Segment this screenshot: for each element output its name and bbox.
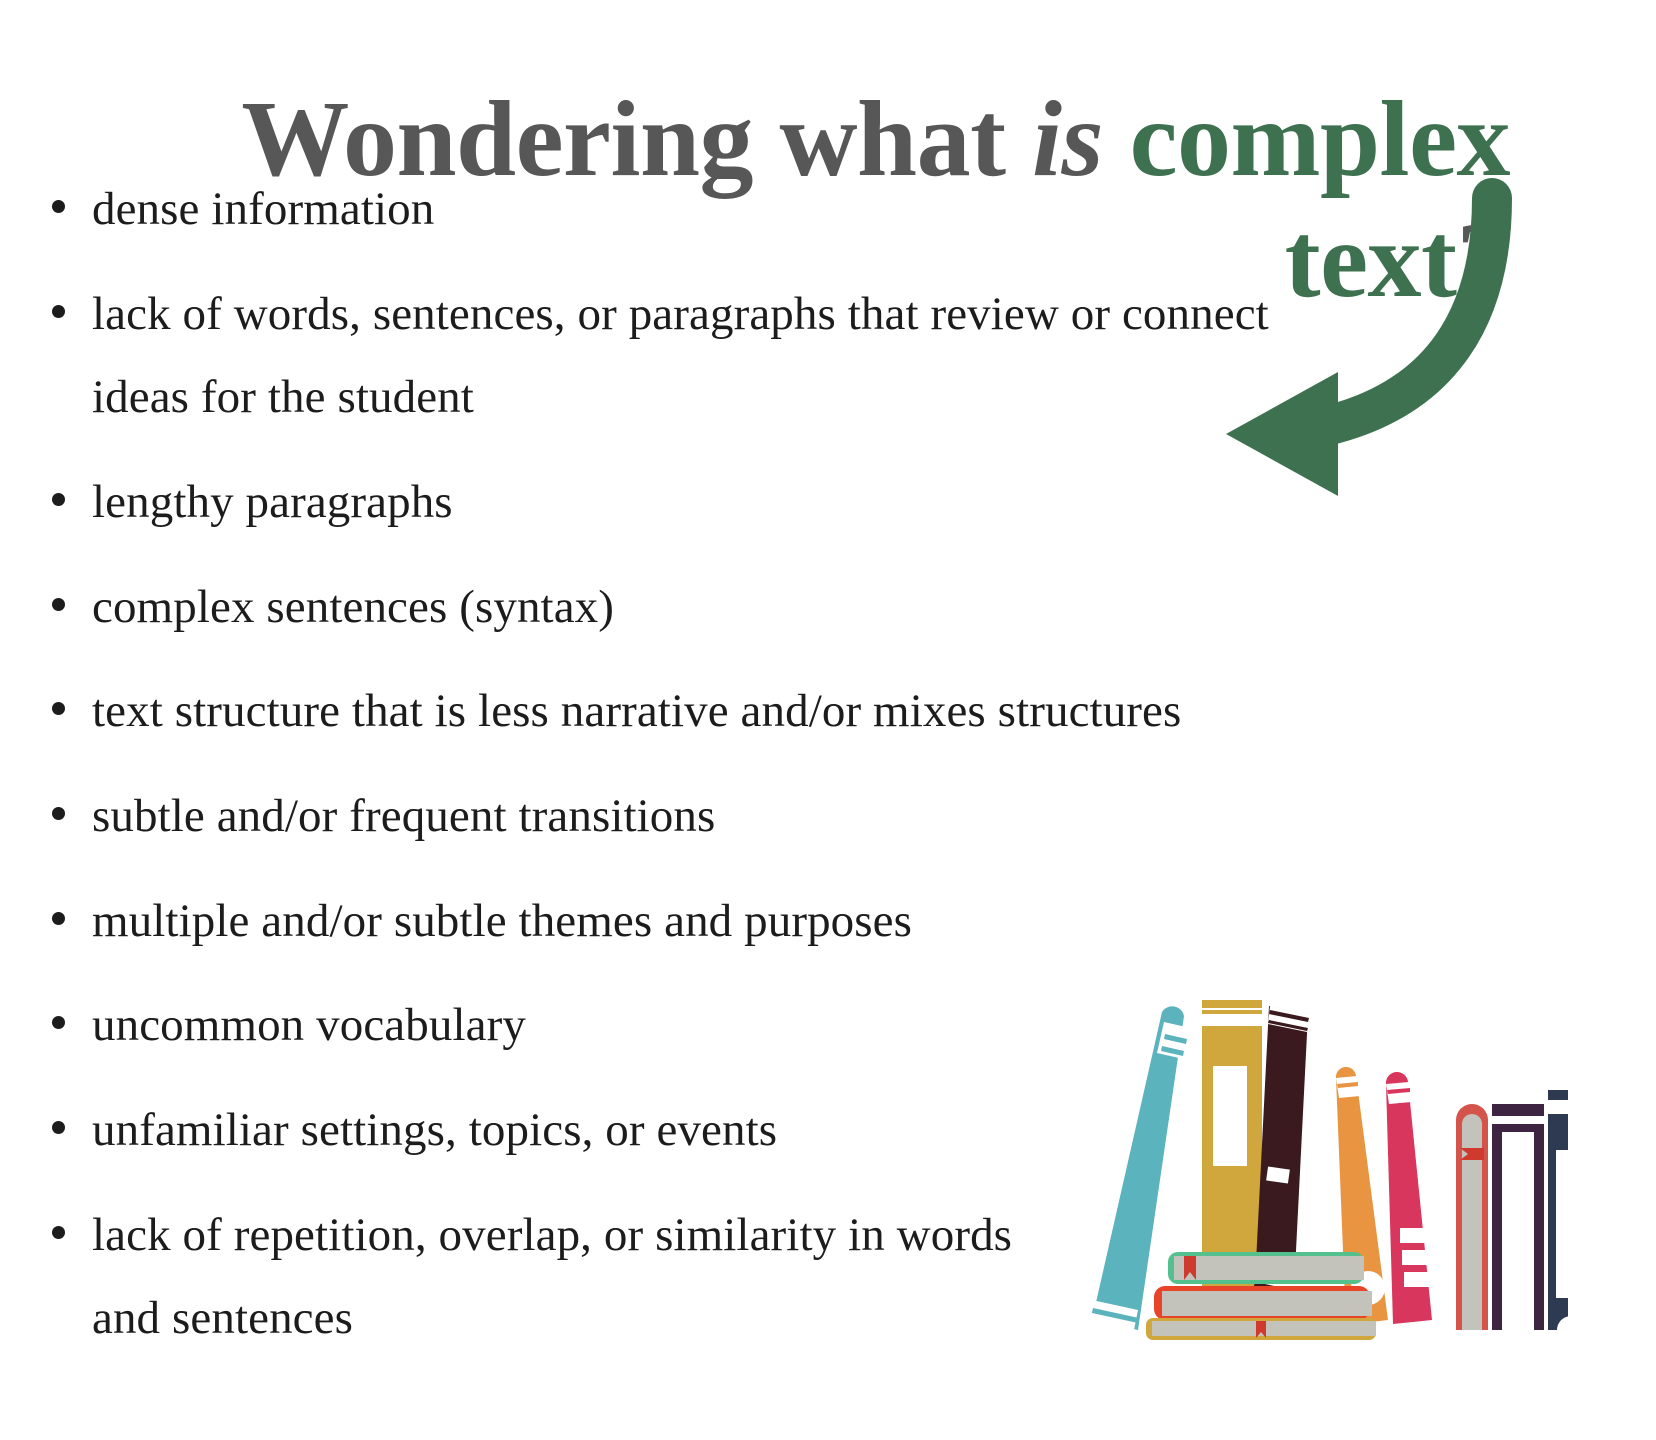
book-coral (1456, 1104, 1488, 1330)
list-item: complex sentences (syntax) (34, 566, 1494, 650)
book-gold-horizontal (1146, 1318, 1376, 1340)
book-mint-horizontal (1168, 1252, 1364, 1284)
list-item: dense information (34, 168, 1494, 252)
book-pink (1386, 1072, 1432, 1324)
list-item-label: unfamiliar settings, topics, or events (92, 1089, 777, 1173)
list-item-label: dense information (92, 168, 434, 252)
bullet-dot-icon (52, 912, 65, 925)
list-item-label: text structure that is less narrative an… (92, 670, 1181, 754)
book-dark-brown (1254, 1006, 1309, 1294)
list-item-label: lengthy paragraphs (92, 461, 453, 545)
bullet-dot-icon (52, 702, 65, 715)
bullet-dot-icon (52, 200, 65, 213)
list-item-label: lack of words, sentences, or paragraphs … (92, 273, 1337, 440)
bullet-dot-icon (52, 493, 65, 506)
slide-canvas: Wondering what is complex text? dense in… (0, 0, 1656, 1440)
book-navy (1548, 1090, 1568, 1340)
bullet-dot-icon (52, 1016, 65, 1029)
list-item-label: complex sentences (syntax) (92, 566, 614, 650)
list-item: subtle and/or frequent transitions (34, 775, 1494, 859)
list-item-label: lack of repetition, overlap, or similari… (92, 1194, 1092, 1361)
list-item: text structure that is less narrative an… (34, 670, 1494, 754)
list-item-label: subtle and/or frequent transitions (92, 775, 715, 859)
book-red-horizontal (1154, 1286, 1372, 1320)
bullet-dot-icon (52, 305, 65, 318)
list-item-label: multiple and/or subtle themes and purpos… (92, 880, 912, 964)
list-item: multiple and/or subtle themes and purpos… (34, 880, 1494, 964)
bullet-dot-icon (52, 598, 65, 611)
bullet-dot-icon (52, 1226, 65, 1239)
stack-of-books-illustration (1068, 1000, 1568, 1340)
list-item: lack of words, sentences, or paragraphs … (34, 273, 1494, 440)
bullet-dot-icon (52, 1121, 65, 1134)
list-item-label: uncommon vocabulary (92, 984, 526, 1068)
list-item: lengthy paragraphs (34, 461, 1494, 545)
bullet-dot-icon (52, 807, 65, 820)
book-plum (1492, 1104, 1544, 1330)
